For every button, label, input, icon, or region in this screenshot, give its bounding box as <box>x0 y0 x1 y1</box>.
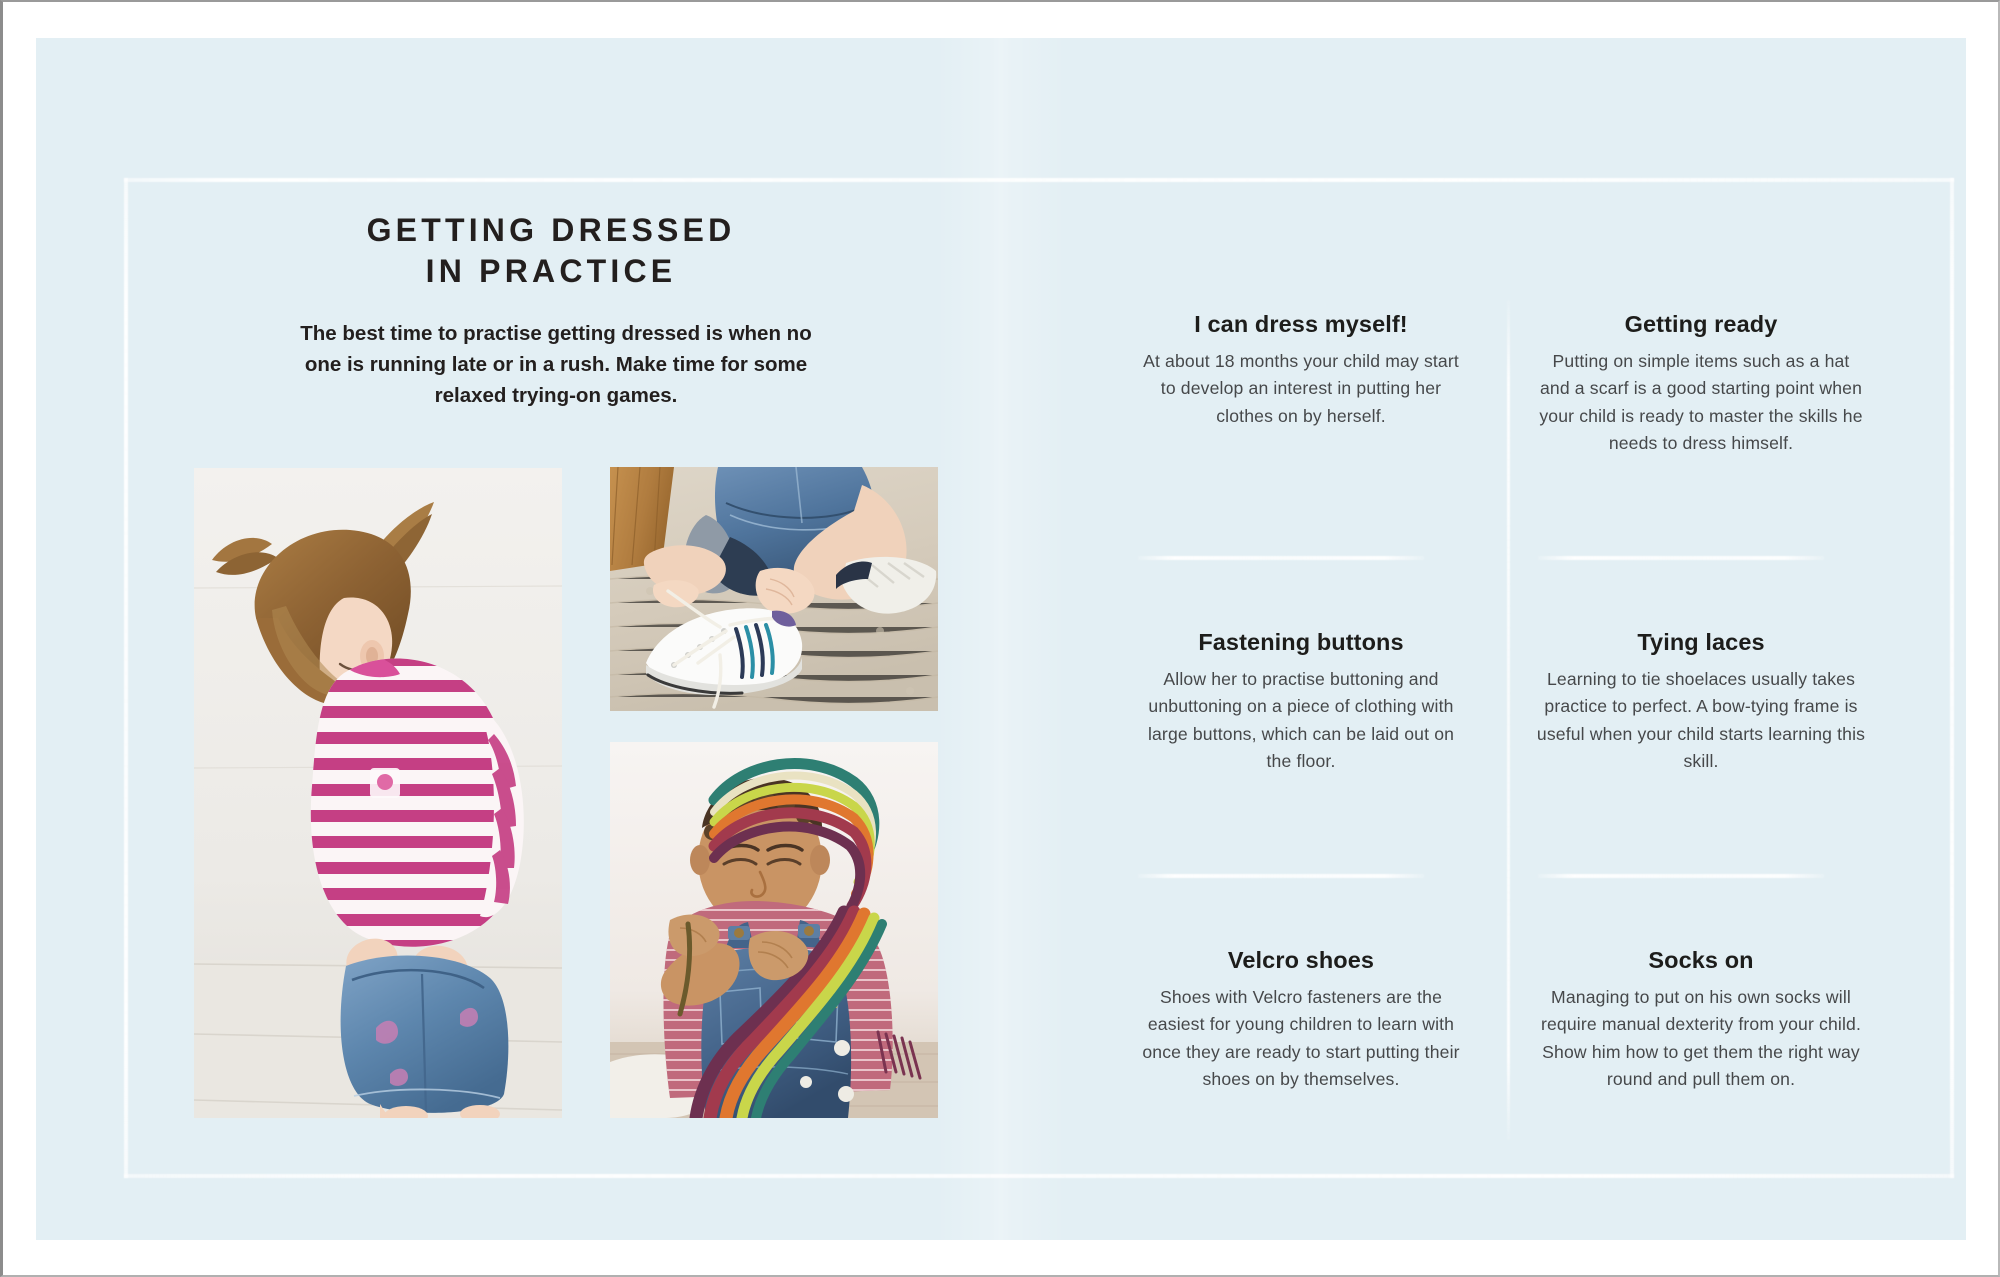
page-title-line-1: GETTING DRESSED <box>367 212 736 248</box>
tip-title: Velcro shoes <box>1136 946 1466 974</box>
intro-paragraph: The best time to practise getting dresse… <box>286 318 826 411</box>
spread-panel: GETTING DRESSED IN PRACTICE The best tim… <box>36 38 1966 1240</box>
tip-body: Shoes with Velcro fasteners are the easi… <box>1136 984 1466 1093</box>
child-with-striped-scarf-image <box>610 742 938 1118</box>
tip-card-fastening-buttons: Fastening buttons Allow her to practise … <box>1136 628 1466 775</box>
left-column: GETTING DRESSED IN PRACTICE The best tim… <box>176 210 936 411</box>
tips-vertical-divider <box>1507 300 1510 1140</box>
tips-grid: I can dress myself! At about 18 months y… <box>1126 310 1906 1130</box>
frame-left-line <box>124 178 128 1178</box>
tip-title: I can dress myself! <box>1136 310 1466 338</box>
tips-divider-row1-right <box>1538 556 1824 560</box>
page-sheet: GETTING DRESSED IN PRACTICE The best tim… <box>0 0 2000 1277</box>
toddler-pulling-up-jeans-image <box>194 468 562 1118</box>
photo-child-with-striped-scarf <box>610 742 938 1118</box>
frame-bottom-line <box>124 1174 1954 1178</box>
photo-toddler-pulling-up-jeans <box>194 468 562 1118</box>
tip-card-socks-on: Socks on Managing to put on his own sock… <box>1536 946 1866 1093</box>
tips-divider-row2-left <box>1138 874 1424 878</box>
tip-card-i-can-dress-myself: I can dress myself! At about 18 months y… <box>1136 310 1466 430</box>
tip-title: Getting ready <box>1536 310 1866 338</box>
tip-title: Tying laces <box>1536 628 1866 656</box>
tip-body: At about 18 months your child may start … <box>1136 348 1466 430</box>
tip-card-tying-laces: Tying laces Learning to tie shoelaces us… <box>1536 628 1866 775</box>
tip-title: Socks on <box>1536 946 1866 974</box>
tips-divider-row1-left <box>1138 556 1424 560</box>
tip-card-getting-ready: Getting ready Putting on simple items su… <box>1536 310 1866 457</box>
tips-divider-row2-right <box>1538 874 1824 878</box>
frame-right-line <box>1950 178 1954 1178</box>
tip-body: Learning to tie shoelaces usually takes … <box>1536 666 1866 775</box>
tip-title: Fastening buttons <box>1136 628 1466 656</box>
frame-top-line <box>124 178 1954 182</box>
page-title: GETTING DRESSED IN PRACTICE <box>176 210 936 292</box>
child-tying-shoelaces-image <box>610 467 938 711</box>
tip-body: Managing to put on his own socks will re… <box>1536 984 1866 1093</box>
page-title-line-2: IN PRACTICE <box>214 251 888 292</box>
tip-card-velcro-shoes: Velcro shoes Shoes with Velcro fasteners… <box>1136 946 1466 1093</box>
tip-body: Allow her to practise buttoning and unbu… <box>1136 666 1466 775</box>
tip-body: Putting on simple items such as a hat an… <box>1536 348 1866 457</box>
photo-child-tying-shoelaces <box>610 467 938 711</box>
